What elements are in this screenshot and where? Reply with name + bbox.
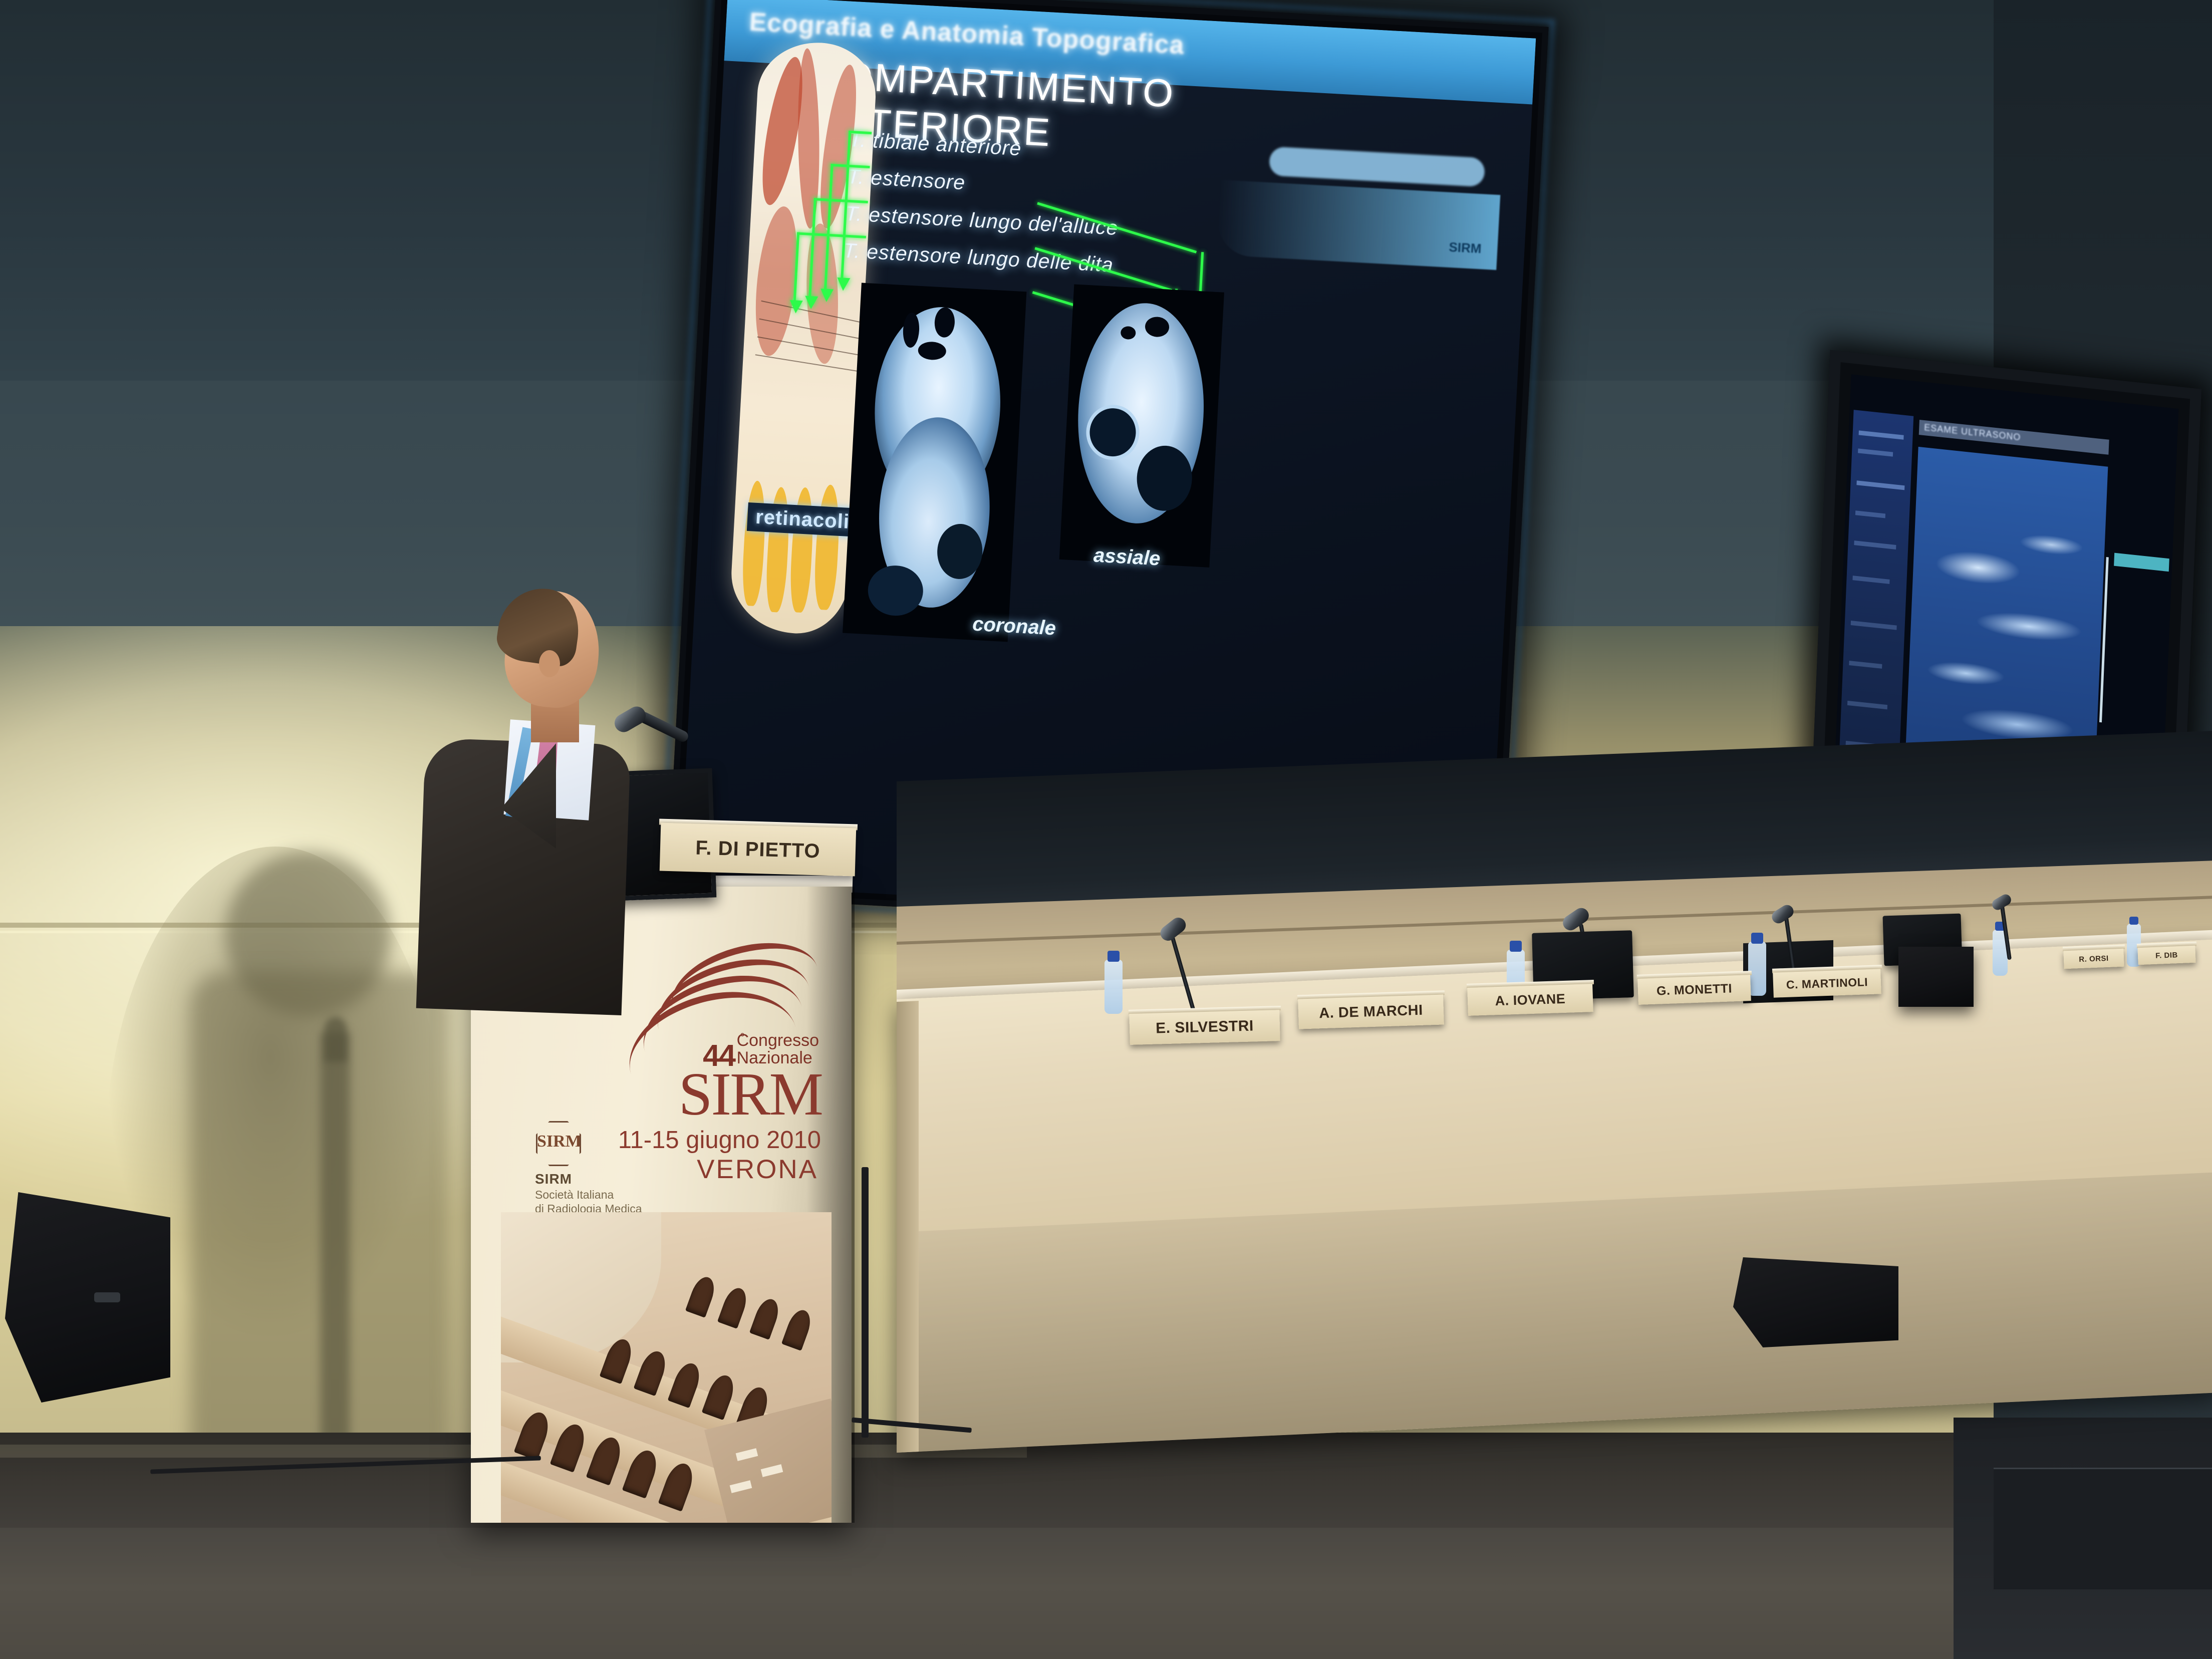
- panel-nameplate: E. SILVESTRI: [1129, 1010, 1280, 1045]
- speaker-nameplate-text: F. DI PIETTO: [660, 836, 856, 864]
- panel-nameplate: A. IOVANE: [1467, 984, 1593, 1016]
- mri-axial-image: [1059, 285, 1224, 568]
- panel-nameplate: G. MONETTI: [1637, 975, 1751, 1005]
- sirm-congress-line1: Congresso: [737, 1032, 819, 1049]
- arrow-down-2: [820, 289, 834, 302]
- speaker-ear: [539, 650, 560, 677]
- panel-table-left-end: [897, 1001, 919, 1453]
- panel-nameplate-text: A. DE MARCHI: [1319, 1002, 1423, 1021]
- stage-monitor-speaker-right: [1733, 1257, 1898, 1347]
- tendon-label-3: T. estensore lungo delle dita: [843, 239, 1117, 277]
- speaker-nameplate: F. DI PIETTO: [660, 823, 857, 877]
- conference-photo-scene: Ecografia e Anatomia Topografica SIRM CO…: [0, 0, 2212, 1659]
- panel-nameplate: A. DE MARCHI: [1298, 994, 1444, 1029]
- water-bottle: [1748, 942, 1766, 996]
- floor-panel-lower-right: [1994, 1468, 2212, 1589]
- panel-nameplate: C. MARTINOLI: [1773, 969, 1881, 997]
- arena-photo: [501, 1212, 832, 1523]
- mic-stand-shadow-top: [325, 1017, 347, 1062]
- sirm-society-acronym: SIRM: [535, 1171, 572, 1187]
- panel-nameplate-text: E. SILVESTRI: [1156, 1017, 1254, 1037]
- bottle-cap: [1751, 933, 1763, 944]
- tendon-label-list: T. tibiale anteriore T. estensore T. est…: [842, 128, 1123, 291]
- sirm-society-name: Società Italiana di Radiologia Medica: [535, 1188, 642, 1216]
- panel-nameplate-text: G. MONETTI: [1656, 981, 1733, 998]
- speaker-cabinet-handle: [94, 1292, 120, 1302]
- panel-nameplate-text: F. DIB: [2155, 951, 2178, 960]
- foreground-floor: [0, 1528, 2212, 1659]
- mri-caption-axial: assiale: [1093, 544, 1161, 570]
- panel-nameplate-text: A. IOVANE: [1495, 991, 1565, 1008]
- retinacoli-label: retinacoli: [747, 502, 859, 537]
- ultrasound-right-bar: [2114, 553, 2169, 572]
- mri-coronal-image: [843, 283, 1026, 642]
- mri-caption-coronal: coronale: [972, 613, 1056, 640]
- panel-nameplate: F. DIB: [2137, 946, 2195, 965]
- panel-nameplate-text: C. MARTINOLI: [1786, 975, 1868, 992]
- mic-stand-shadow: [321, 1032, 350, 1473]
- speaker-person: [381, 591, 661, 1002]
- sirm-society-line1: Società Italiana: [535, 1188, 642, 1202]
- sirm-acronym: SIRM: [679, 1064, 822, 1125]
- arrow-down-3: [804, 296, 818, 310]
- panel-nameplate: R. ORSI: [2063, 949, 2124, 969]
- arrow-down-4: [789, 300, 802, 314]
- sirm-city: VERONA: [697, 1154, 818, 1185]
- panel-nameplate-text: R. ORSI: [2079, 954, 2109, 963]
- sirm-society-mark: SIRM SIRM Società Italiana di Radiologia…: [522, 1121, 672, 1216]
- bottle-cap: [1108, 951, 1120, 962]
- slide-decor-swoosh: [1216, 180, 1500, 270]
- bottle-cap: [2129, 917, 2138, 925]
- stage-amp-box: [1898, 947, 1974, 1007]
- tendon-label-1: T. estensore: [847, 165, 1121, 203]
- bottle-cap: [1510, 941, 1522, 952]
- slide-corner-logo: SIRM: [1449, 239, 1482, 256]
- arrow-down-1: [837, 278, 850, 291]
- sirm-monogram: SIRM: [537, 1132, 577, 1151]
- stage-cable: [862, 1167, 869, 1438]
- stage-monitor-speaker-left: [5, 1192, 170, 1403]
- tendon-label-2: T. estensore lungo del'alluce: [845, 202, 1119, 240]
- water-bottle: [1104, 960, 1123, 1014]
